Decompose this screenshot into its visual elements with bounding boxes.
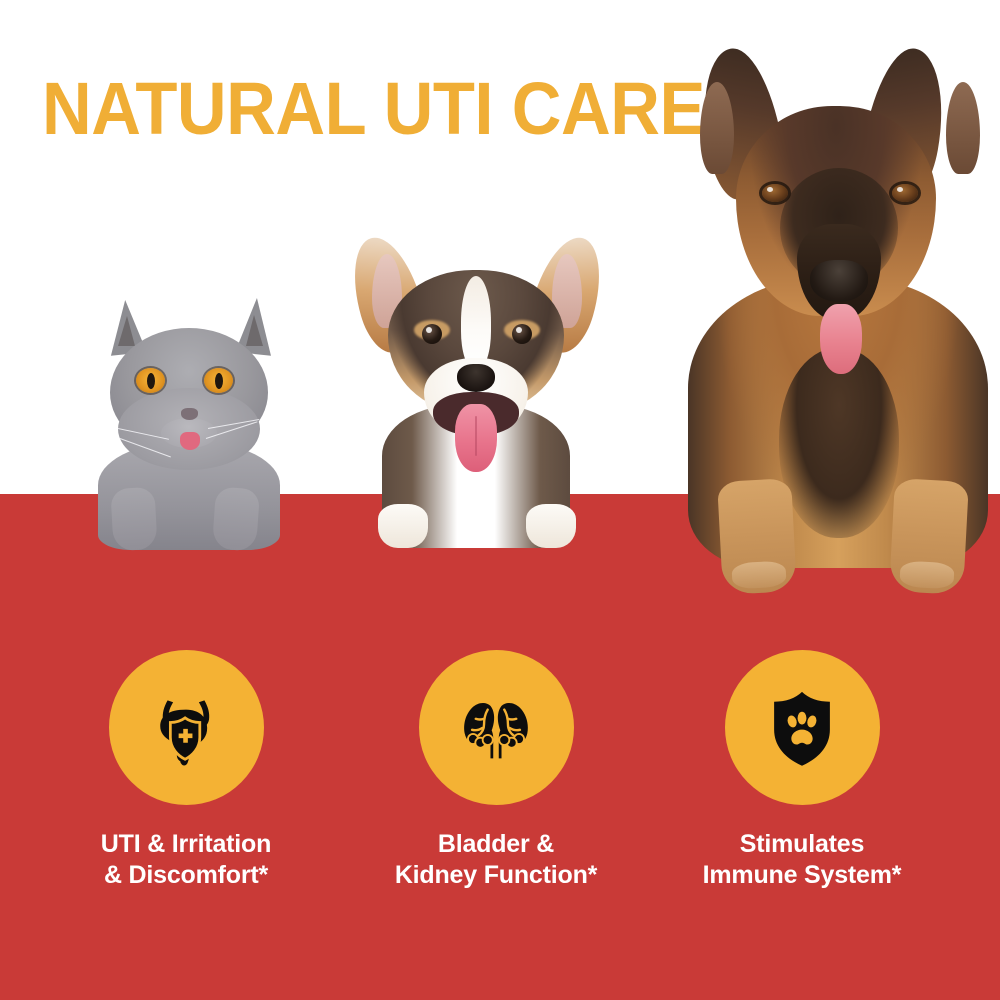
- benefits-row: UTI & Irritation & Discomfort*: [0, 650, 1000, 891]
- gsd-nose: [810, 260, 868, 302]
- kidneys-icon: [450, 682, 542, 774]
- benefit-icon-badge-1: [109, 650, 264, 805]
- bladder-shield-icon: [140, 682, 232, 774]
- corgi-puppy-photo: [352, 232, 600, 548]
- benefit-item-kidney: Bladder & Kidney Function*: [341, 650, 651, 891]
- benefit-icon-badge-3: [725, 650, 880, 805]
- benefit-item-uti: UTI & Irritation & Discomfort*: [31, 650, 341, 891]
- cat-inner-ear-right: [246, 315, 263, 346]
- benefit-icon-badge-2: [419, 650, 574, 805]
- benefit-item-immune: Stimulates Immune System*: [647, 650, 957, 891]
- cat-paw-left: [110, 487, 157, 551]
- gsd-eye-left: [762, 184, 788, 202]
- corgi-paw-right: [526, 504, 576, 548]
- product-feature-poster: NATURAL UTI CARE: [0, 0, 1000, 1000]
- gsd-paw-right: [889, 478, 969, 595]
- cat-paw-right: [212, 487, 260, 552]
- benefit-label-kidney: Bladder & Kidney Function*: [395, 829, 597, 891]
- gsd-inner-ear-right: [946, 82, 980, 174]
- corgi-face-blaze: [461, 276, 491, 368]
- corgi-nose: [457, 364, 495, 392]
- gsd-paw-left: [717, 478, 797, 595]
- german-shepherd-photo: [678, 48, 1000, 593]
- cat-tongue: [180, 432, 200, 450]
- cat-nose: [181, 408, 198, 420]
- corgi-eye-left: [422, 324, 442, 344]
- corgi-eye-right: [512, 324, 532, 344]
- benefit-label-immune: Stimulates Immune System*: [703, 829, 902, 891]
- gsd-eye-right: [892, 184, 918, 202]
- cat-eye-left: [136, 368, 165, 393]
- corgi-paw-left: [378, 504, 428, 548]
- cat-photo: [96, 292, 282, 548]
- cat-eye-right: [204, 368, 233, 393]
- cat-inner-ear-left: [118, 316, 135, 346]
- gsd-chest-shading: [779, 348, 899, 538]
- shield-paw-icon: [761, 687, 843, 769]
- benefit-label-uti: UTI & Irritation & Discomfort*: [101, 829, 271, 891]
- corgi-tongue: [455, 404, 497, 472]
- gsd-tongue: [820, 304, 862, 374]
